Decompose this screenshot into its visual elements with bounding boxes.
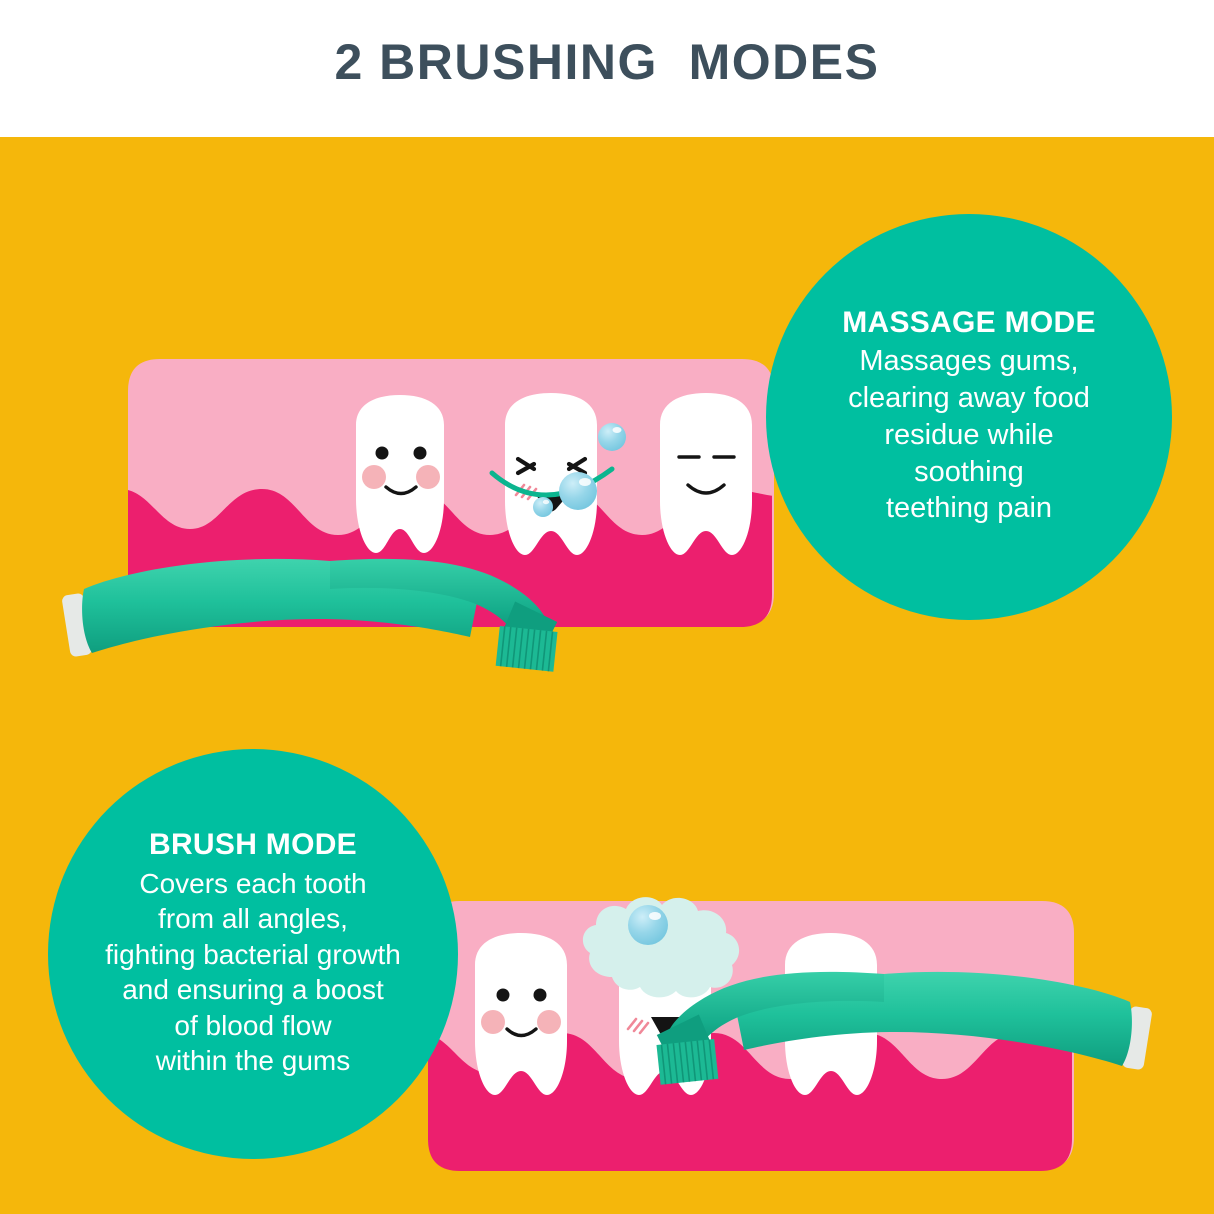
bubble-on-foam (628, 905, 668, 945)
header-band: 2 BRUSHING MODES (0, 0, 1214, 137)
tooth-1-eye-left (376, 447, 389, 460)
tooth-1-eye-right (414, 447, 427, 460)
massage-mode-body: Massages gums, clearing away food residu… (848, 343, 1090, 527)
bubble-tiny (533, 497, 553, 517)
massage-mode-callout[interactable]: MASSAGE MODE Massages gums, clearing awa… (766, 214, 1172, 620)
tooth-3-massage (660, 393, 752, 555)
infographic-page: 2 BRUSHING MODES (0, 0, 1214, 1214)
bubble-small (598, 423, 626, 451)
page-title: 2 BRUSHING MODES (0, 33, 1214, 91)
tooth-1-blush-left (362, 465, 386, 489)
tooth-1-eye-right (534, 989, 547, 1002)
brush-mode-heading: BRUSH MODE (149, 829, 357, 861)
brush-mode-callout[interactable]: BRUSH MODE Covers each tooth from all an… (48, 749, 458, 1159)
brush-mode-body: Covers each tooth from all angles, fight… (105, 866, 401, 1079)
tooth-1-blush-right (537, 1010, 561, 1034)
illustration-canvas: MASSAGE MODE Massages gums, clearing awa… (0, 137, 1214, 1214)
brush-bristles (496, 626, 558, 672)
tooth-1-blush-left (481, 1010, 505, 1034)
tooth-1-blush-right (416, 465, 440, 489)
tooth-1-eye-left (497, 989, 510, 1002)
massage-mode-heading: MASSAGE MODE (842, 307, 1096, 339)
tooth-1-brush (475, 933, 567, 1095)
brush-bristles (656, 1039, 718, 1085)
bubble-large (559, 472, 597, 510)
